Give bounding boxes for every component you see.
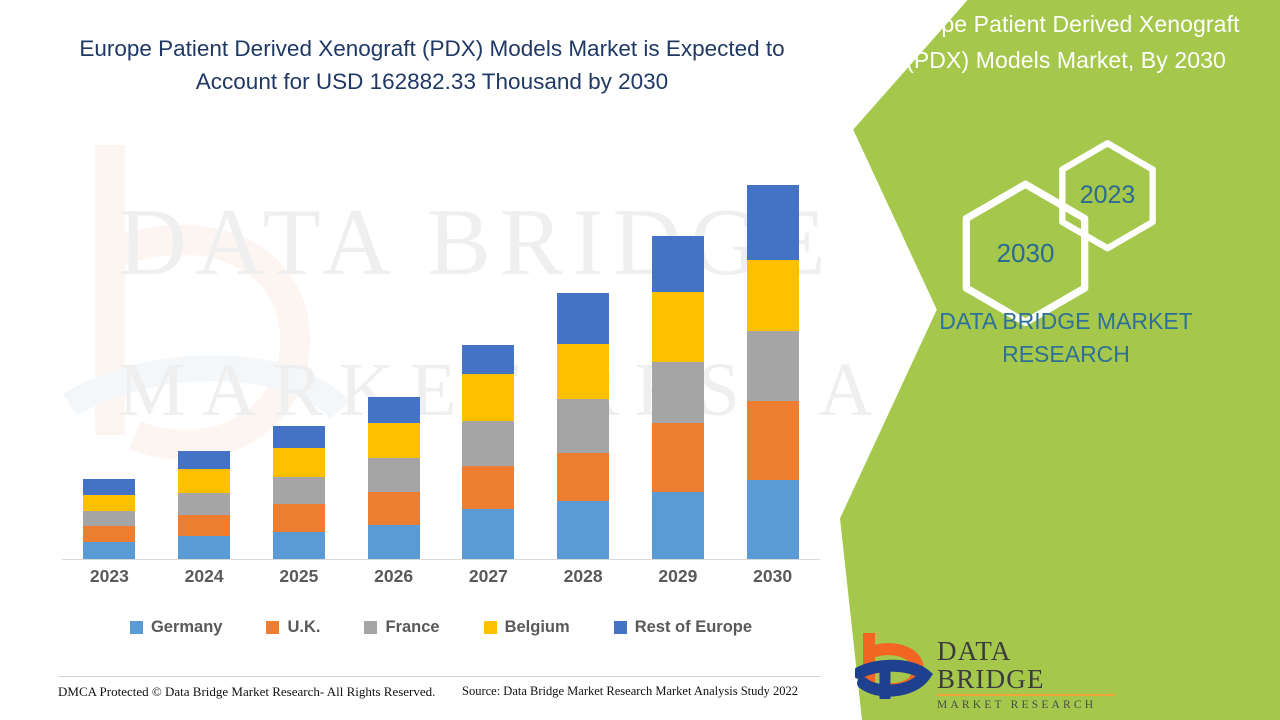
brand-line-1: DATA BRIDGE MARKET [860,305,1272,338]
copyright-text: DMCA Protected © Data Bridge Market Rese… [58,684,435,700]
bar-segment[interactable] [652,292,704,362]
x-axis-tick-label: 2023 [62,566,157,592]
company-logo: DATA BRIDGE MARKET RESEARCH [855,625,1115,705]
bar-segment[interactable] [273,426,325,448]
bar-segment[interactable] [462,466,514,509]
bar-slot [62,150,157,559]
hexagon-2030-label: 2030 [997,238,1055,269]
x-axis-tick-label: 2024 [157,566,252,592]
bar-segment[interactable] [462,421,514,466]
bar-segment[interactable] [273,448,325,477]
bar-segment[interactable] [178,493,230,515]
bar-segment[interactable] [557,453,609,501]
legend-swatch-icon [364,621,377,634]
bar-segment[interactable] [273,532,325,559]
bar-segment[interactable] [462,509,514,559]
bar-segment[interactable] [557,344,609,399]
brand-name: DATA BRIDGE MARKET RESEARCH [860,305,1272,371]
legend-item[interactable]: Germany [130,618,223,637]
chart-panel: DATA BRIDGE MARKET RESEARCH Europe Patie… [0,0,872,720]
bar-segment[interactable] [462,345,514,374]
legend-swatch-icon [614,621,627,634]
stacked-bar[interactable] [368,397,420,559]
bar-slot [536,150,631,559]
stacked-bar[interactable] [178,451,230,559]
logo-wordmark-top: DATA BRIDGE [937,637,1115,693]
bar-series-container [62,150,820,559]
legend-swatch-icon [266,621,279,634]
bar-segment[interactable] [83,542,135,559]
legend-swatch-icon [484,621,497,634]
panel-title: Europe Patient Derived Xenograft (PDX) M… [860,6,1272,78]
stacked-bar[interactable] [747,185,799,559]
stacked-bar[interactable] [462,345,514,559]
bar-segment[interactable] [747,331,799,401]
bar-slot [346,150,441,559]
footer-divider [58,676,820,677]
bar-segment[interactable] [368,423,420,458]
bar-slot [157,150,252,559]
plot-area [62,150,820,560]
bar-segment[interactable] [368,397,420,423]
bar-segment[interactable] [368,458,420,492]
bar-segment[interactable] [178,469,230,493]
x-axis-tick-label: 2025 [252,566,347,592]
legend-item[interactable]: France [364,618,439,637]
bar-segment[interactable] [273,504,325,532]
bar-segment[interactable] [462,374,514,421]
bar-segment[interactable] [747,185,799,260]
legend-item-label: Belgium [505,618,570,637]
legend-item-label: U.K. [287,618,320,637]
logo-wordmark-bottom: MARKET RESEARCH [937,698,1115,712]
data-bridge-logo-icon [855,627,935,701]
bar-slot [441,150,536,559]
hexagon-group: 2023 2030 [840,128,1280,298]
source-text: Source: Data Bridge Market Research Mark… [462,684,798,699]
bar-segment[interactable] [83,526,135,542]
bar-slot [252,150,347,559]
chart-legend: GermanyU.K.FranceBelgiumRest of Europe [62,612,820,642]
bar-segment[interactable] [652,362,704,423]
legend-item[interactable]: U.K. [266,618,320,637]
bar-segment[interactable] [178,536,230,559]
x-axis-tick-label: 2027 [441,566,536,592]
x-axis-tick-label: 2026 [346,566,441,592]
bar-segment[interactable] [368,525,420,559]
legend-item-label: Rest of Europe [635,618,752,637]
legend-item[interactable]: Belgium [484,618,570,637]
bar-segment[interactable] [557,501,609,559]
legend-item-label: France [385,618,439,637]
bar-slot [725,150,820,559]
bar-segment[interactable] [652,492,704,559]
bar-segment[interactable] [83,511,135,526]
legend-swatch-icon [130,621,143,634]
brand-line-2: RESEARCH [860,338,1272,371]
bar-segment[interactable] [652,423,704,492]
stacked-bar[interactable] [273,426,325,559]
stacked-bar[interactable] [83,479,135,559]
bar-segment[interactable] [178,451,230,469]
bar-slot [631,150,726,559]
bar-segment[interactable] [273,477,325,504]
bar-segment[interactable] [747,260,799,331]
bar-segment[interactable] [83,479,135,495]
x-axis-tick-label: 2030 [725,566,820,592]
logo-rule [937,694,1115,696]
hexagon-2023-label: 2023 [1080,181,1136,210]
x-axis-tick-label: 2028 [536,566,631,592]
panel-content: Europe Patient Derived Xenograft (PDX) M… [840,0,1280,720]
bar-segment[interactable] [557,399,609,453]
stacked-bar[interactable] [557,293,609,559]
infographic-root: DATA BRIDGE MARKET RESEARCH Europe Patie… [0,0,1280,720]
bar-segment[interactable] [83,495,135,511]
bar-segment[interactable] [652,236,704,292]
logo-wordmark: DATA BRIDGE MARKET RESEARCH [937,637,1115,712]
page-title: Europe Patient Derived Xenograft (PDX) M… [62,32,802,98]
bar-segment[interactable] [747,480,799,559]
x-axis-labels: 20232024202520262027202820292030 [62,566,820,592]
x-axis-tick-label: 2029 [631,566,726,592]
bar-segment[interactable] [368,492,420,525]
bar-segment[interactable] [747,401,799,480]
legend-item[interactable]: Rest of Europe [614,618,752,637]
bar-segment[interactable] [557,293,609,344]
stacked-bar[interactable] [652,236,704,559]
bar-segment[interactable] [178,515,230,536]
legend-item-label: Germany [151,618,223,637]
x-axis-line [62,559,820,560]
